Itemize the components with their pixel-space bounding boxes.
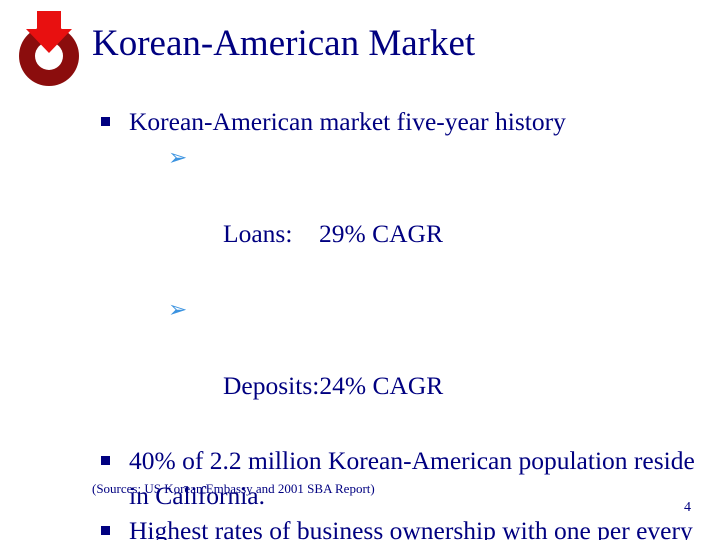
bullet-text: Highest rates of business ownership with…: [129, 516, 693, 540]
square-bullet-icon: [101, 456, 110, 465]
page-number: 4: [684, 500, 691, 516]
sub-bullet-list: ➢ Loans:29% CAGR ➢ Deposits:24% CAGR: [96, 139, 696, 443]
presentation-slide: Korean-American Market Korean-American m…: [0, 0, 720, 540]
sub-bullet-label: Deposits:: [223, 367, 319, 405]
page-title: Korean-American Market: [92, 22, 475, 66]
list-item: 40% of 2.2 million Korean-American popul…: [96, 443, 696, 513]
slide-body: Korean-American market five-year history…: [96, 104, 696, 540]
source-footnote: (Sources: US Korean Embassy and 2001 SBA…: [92, 481, 375, 497]
square-bullet-icon: [101, 526, 110, 535]
arrowhead-bullet-icon: ➢: [168, 291, 190, 329]
ring-arrow-logo: [12, 9, 86, 87]
bullet-text: 40% of 2.2 million Korean-American popul…: [129, 446, 695, 510]
list-item: ➢ Loans:29% CAGR: [96, 139, 696, 291]
sub-bullet-value: 29% CAGR: [319, 219, 443, 248]
list-item: Highest rates of business ownership with…: [96, 513, 696, 540]
list-item: Korean-American market five-year history: [96, 104, 696, 139]
bullet-text: Korean-American market five-year history: [129, 107, 566, 136]
sub-bullet-label: Loans:: [223, 215, 319, 253]
square-bullet-icon: [101, 117, 110, 126]
arrowhead-bullet-icon: ➢: [168, 139, 190, 177]
list-item: ➢ Deposits:24% CAGR: [96, 291, 696, 443]
sub-bullet-value: 24% CAGR: [319, 371, 443, 400]
